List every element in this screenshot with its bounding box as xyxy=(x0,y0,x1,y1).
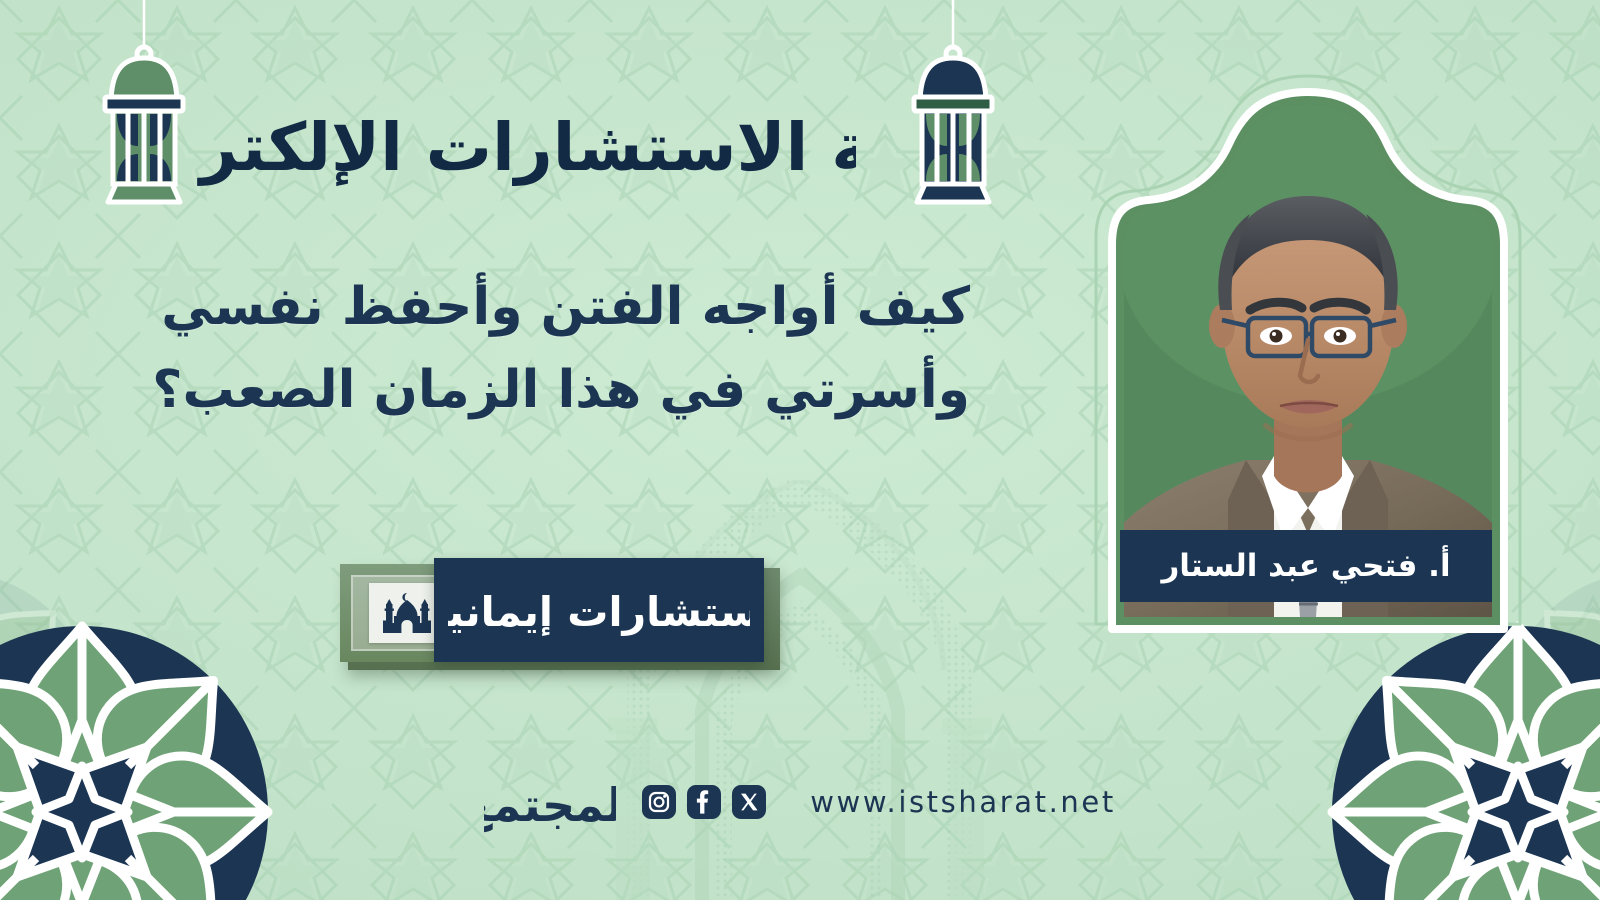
footer-logo-text: المجتمع xyxy=(484,778,616,832)
lantern-icon-right xyxy=(903,0,1003,211)
facebook-icon[interactable] xyxy=(687,785,721,819)
lantern-icon-left xyxy=(94,0,194,211)
instagram-icon[interactable] xyxy=(642,785,676,819)
social-links xyxy=(642,785,766,819)
footer-bar: المجتمع xyxy=(0,756,1600,848)
poster-canvas: بوابة الاستشارات الإلكترونية كيف أواجه ا… xyxy=(0,0,1600,900)
x-twitter-icon[interactable] xyxy=(732,785,766,819)
header-calligraphy-text: بوابة الاستشارات الإلكترونية xyxy=(196,109,856,187)
title-line-2: وأسرتي في هذا الزمان الصعب؟ xyxy=(160,351,970,430)
page-title: كيف أواجه الفتن وأحفظ نفسي وأسرتي في هذا… xyxy=(160,268,970,430)
speaker-nameplate: أ. فتحي عبد الستار xyxy=(1120,530,1492,602)
center-banner-label-plate: استشارات إيمانية xyxy=(434,558,764,662)
header-calligraphy-title: بوابة الاستشارات الإلكترونية xyxy=(196,62,856,212)
title-line-1: كيف أواجه الفتن وأحفظ نفسي xyxy=(160,268,970,347)
speaker-name: أ. فتحي عبد الستار xyxy=(1161,548,1450,584)
footer-logo-almujtama[interactable]: المجتمع xyxy=(484,759,616,845)
center-banner-label: استشارات إيمانية xyxy=(448,588,750,637)
center-banner[interactable]: استشارات إيمانية xyxy=(340,558,780,670)
website-url[interactable]: www.istsharat.net xyxy=(810,785,1116,819)
